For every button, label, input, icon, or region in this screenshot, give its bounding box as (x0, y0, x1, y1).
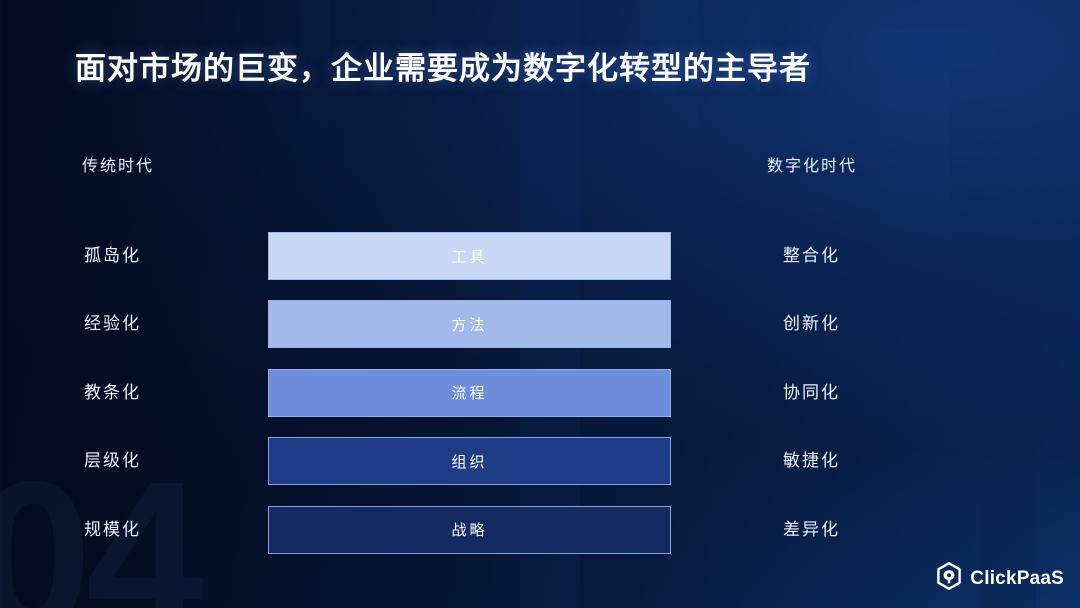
clickpaas-hexagon-icon (936, 562, 962, 595)
transformation-matrix: 孤岛化 工具 整合化 经验化 方法 创新化 教条化 流程 协同化 层级化 组织 (0, 232, 1080, 554)
matrix-row: 经验化 方法 创新化 (0, 300, 1080, 368)
matrix-row: 教条化 流程 协同化 (0, 369, 1080, 437)
matrix-row: 层级化 组织 敏捷化 (0, 437, 1080, 505)
center-bar-strategy[interactable]: 战略 (268, 506, 671, 554)
row-label-traditional: 层级化 (84, 437, 141, 485)
clickpaas-wordmark: ClickPaaS (970, 568, 1064, 590)
column-header-traditional: 传统时代 (82, 152, 154, 176)
row-label-digital: 整合化 (783, 232, 840, 280)
row-label-digital: 协同化 (783, 369, 840, 417)
center-bar-process[interactable]: 流程 (268, 369, 671, 417)
center-bar-label: 组织 (451, 451, 487, 472)
row-label-digital: 创新化 (783, 300, 840, 348)
column-header-digital: 数字化时代 (767, 152, 857, 176)
row-label-traditional: 规模化 (84, 506, 141, 554)
row-label-traditional: 孤岛化 (84, 232, 141, 280)
center-bar-organization[interactable]: 组织 (268, 437, 671, 485)
slide-root: 04 面对市场的巨变，企业需要成为数字化转型的主导者 传统时代 数字化时代 孤岛… (0, 0, 1080, 608)
matrix-row: 规模化 战略 差异化 (0, 506, 1080, 574)
center-bar-label: 流程 (451, 382, 487, 403)
row-label-traditional: 经验化 (84, 300, 141, 348)
center-bar-label: 战略 (451, 519, 487, 540)
center-bar-label: 工具 (451, 246, 487, 267)
matrix-row: 孤岛化 工具 整合化 (0, 232, 1080, 300)
page-title: 面对市场的巨变，企业需要成为数字化转型的主导者 (75, 43, 811, 88)
center-bar-tool[interactable]: 工具 (268, 232, 671, 280)
row-label-digital: 敏捷化 (783, 437, 840, 485)
center-bar-label: 方法 (451, 314, 487, 335)
clickpaas-logo: ClickPaaS (936, 562, 1064, 595)
row-label-digital: 差异化 (783, 506, 840, 554)
row-label-traditional: 教条化 (84, 369, 141, 417)
center-bar-method[interactable]: 方法 (268, 300, 671, 348)
